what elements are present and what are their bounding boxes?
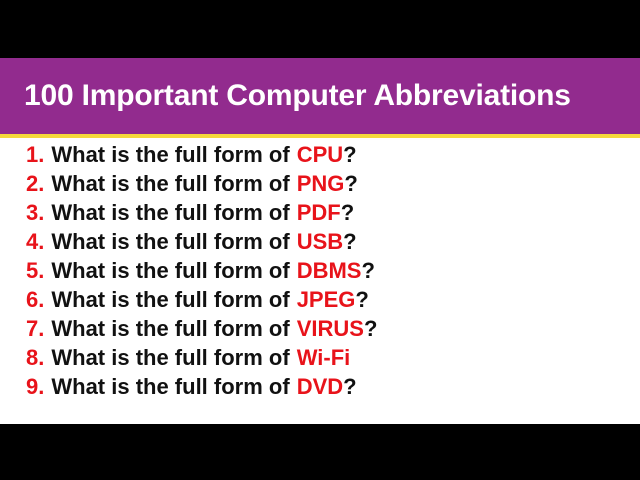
question-mark: ? [361, 258, 374, 284]
question-abbreviation: VIRUS [297, 316, 364, 342]
question-prompt: What is the full form of [51, 374, 289, 400]
question-row: 7.What is the full form ofVIRUS? [0, 316, 640, 345]
question-number: 8. [26, 345, 44, 371]
question-list: 1.What is the full form ofCPU?2.What is … [0, 142, 640, 403]
video-frame: 100 Important Computer Abbreviations 1.W… [0, 0, 640, 480]
letterbox-bar-bottom [0, 424, 640, 480]
question-number: 2. [26, 171, 44, 197]
question-abbreviation: DBMS [297, 258, 362, 284]
question-number: 5. [26, 258, 44, 284]
question-abbreviation: DVD [297, 374, 343, 400]
question-prompt: What is the full form of [51, 287, 289, 313]
page-title: 100 Important Computer Abbreviations [24, 81, 571, 111]
question-prompt: What is the full form of [51, 258, 289, 284]
question-number: 3. [26, 200, 44, 226]
question-row: 3.What is the full form ofPDF? [0, 200, 640, 229]
question-abbreviation: CPU [297, 142, 343, 168]
question-row: 1.What is the full form ofCPU? [0, 142, 640, 171]
question-row: 6.What is the full form ofJPEG? [0, 287, 640, 316]
question-mark: ? [364, 316, 377, 342]
question-row: 2.What is the full form ofPNG? [0, 171, 640, 200]
question-prompt: What is the full form of [51, 142, 289, 168]
question-row: 4.What is the full form ofUSB? [0, 229, 640, 258]
slide-header: 100 Important Computer Abbreviations [0, 58, 640, 134]
question-abbreviation: USB [297, 229, 343, 255]
question-row: 8.What is the full form ofWi-Fi [0, 345, 640, 374]
question-number: 6. [26, 287, 44, 313]
question-abbreviation: PDF [297, 200, 341, 226]
question-row: 9.What is the full form ofDVD? [0, 374, 640, 403]
question-prompt: What is the full form of [51, 171, 289, 197]
question-abbreviation: Wi-Fi [297, 345, 351, 371]
question-mark: ? [344, 171, 357, 197]
question-mark: ? [343, 229, 356, 255]
question-row: 5.What is the full form ofDBMS? [0, 258, 640, 287]
question-mark: ? [355, 287, 368, 313]
question-prompt: What is the full form of [51, 316, 289, 342]
question-abbreviation: JPEG [297, 287, 356, 313]
question-mark: ? [343, 374, 356, 400]
question-number: 1. [26, 142, 44, 168]
question-prompt: What is the full form of [51, 229, 289, 255]
question-mark: ? [343, 142, 356, 168]
header-divider-rule [0, 134, 640, 138]
question-mark: ? [341, 200, 354, 226]
slide-content: 100 Important Computer Abbreviations 1.W… [0, 58, 640, 424]
question-number: 4. [26, 229, 44, 255]
question-number: 9. [26, 374, 44, 400]
question-abbreviation: PNG [297, 171, 345, 197]
question-prompt: What is the full form of [51, 345, 289, 371]
question-number: 7. [26, 316, 44, 342]
question-prompt: What is the full form of [51, 200, 289, 226]
letterbox-bar-top [0, 0, 640, 58]
